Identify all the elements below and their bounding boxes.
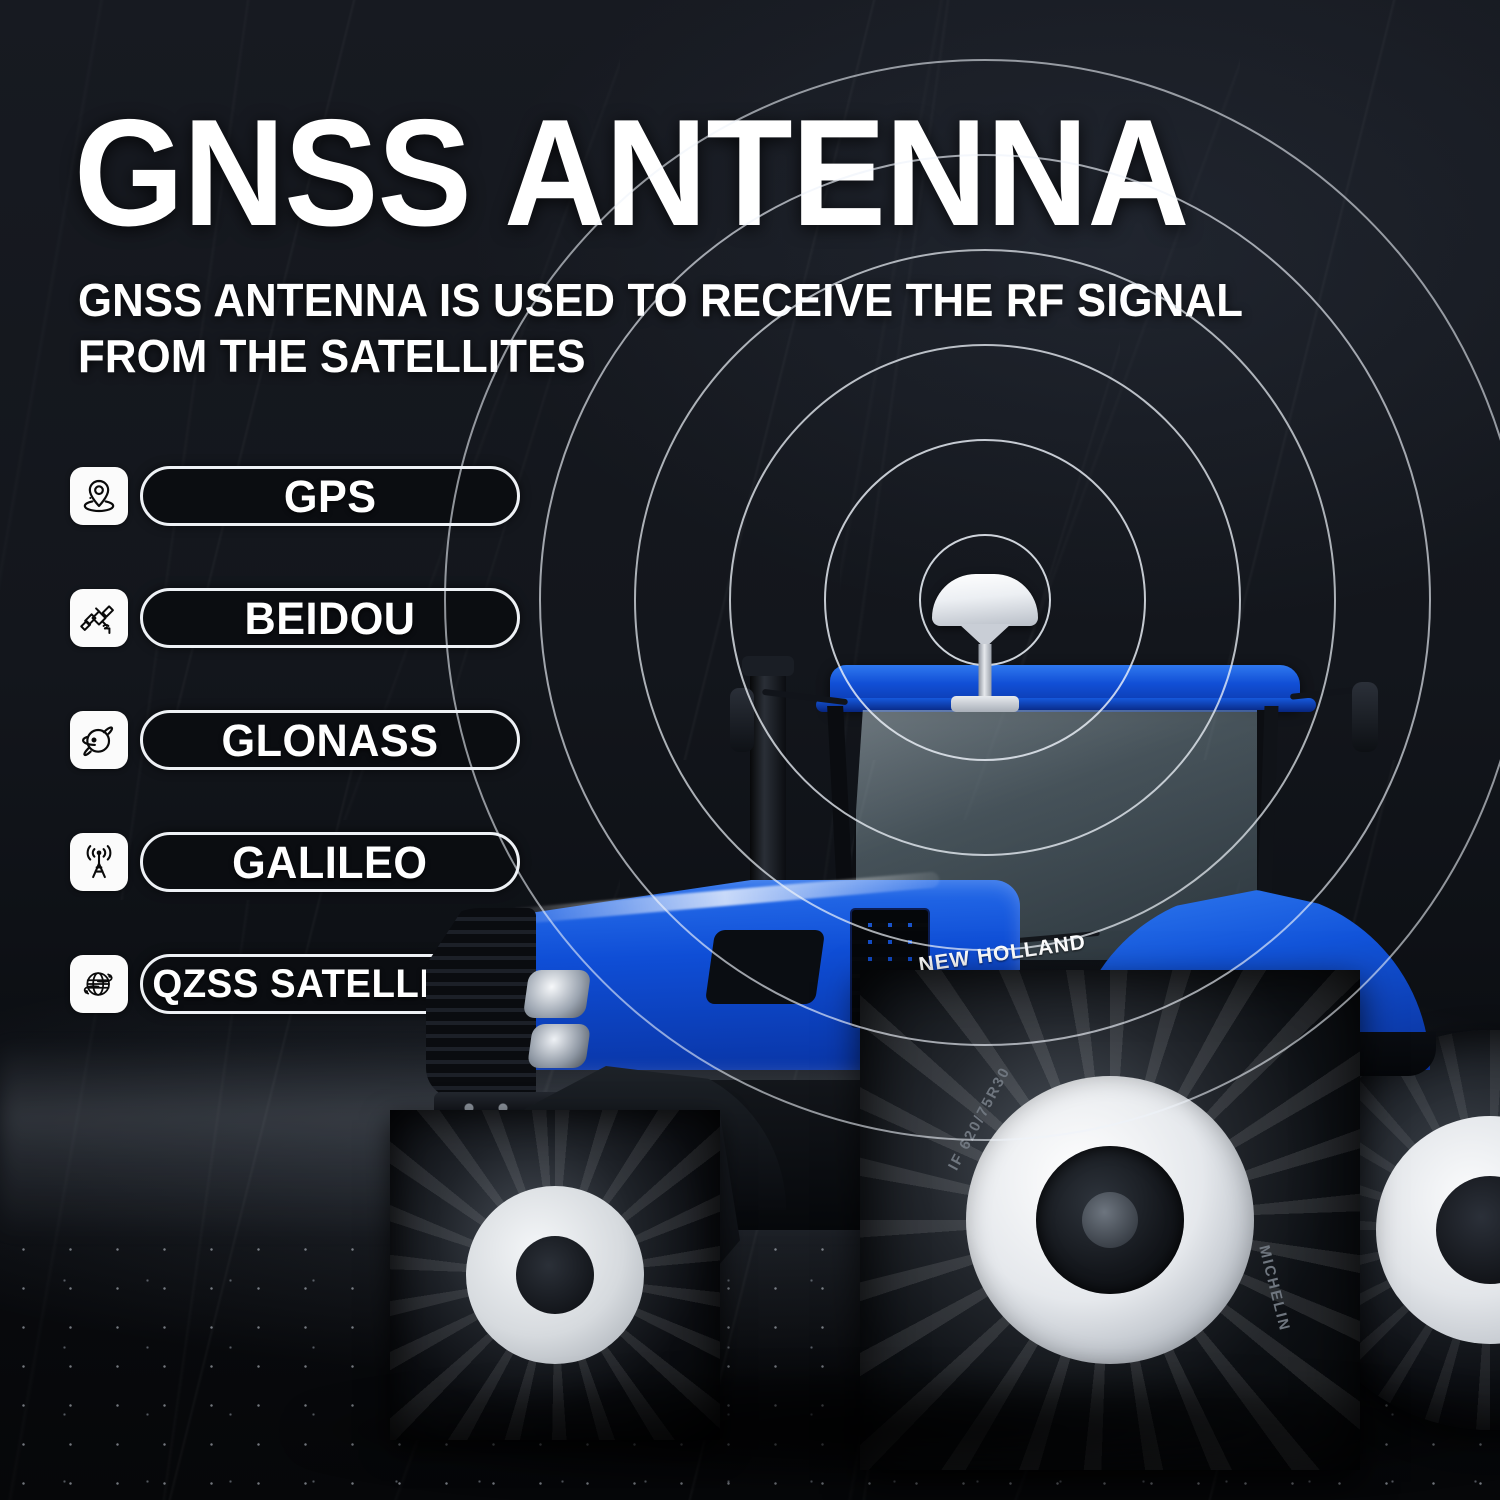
location-pin-icon — [70, 467, 128, 525]
headlamp-lower — [527, 1024, 591, 1068]
exhaust-cap — [742, 656, 794, 676]
page-subtitle: GNSS ANTENNA IS USED TO RECEIVE THE RF S… — [78, 272, 1342, 384]
antenna-mast — [979, 644, 992, 700]
radio-tower-icon — [70, 833, 128, 891]
headlamp-upper — [523, 970, 592, 1018]
exhaust-stack — [750, 670, 786, 900]
rear-hub-center — [1082, 1192, 1138, 1248]
mirror-right — [1352, 682, 1378, 752]
pill-beidou[interactable]: BEIDOU — [140, 588, 520, 648]
hood-vent — [705, 930, 825, 1004]
ground-shadow — [300, 1370, 1500, 1490]
gnss-antenna-infographic: GNSS ANTENNA GNSS ANTENNA IS USED TO REC… — [0, 0, 1500, 1500]
mirror-left — [730, 688, 754, 752]
antenna-base-plate — [951, 696, 1019, 712]
cab-roof-lip — [816, 698, 1316, 712]
satellite-icon — [70, 589, 128, 647]
pill-gps[interactable]: GPS — [140, 466, 520, 526]
page-title: GNSS ANTENNA — [74, 104, 1189, 244]
planet-icon — [70, 711, 128, 769]
globe-orbit-icon — [70, 955, 128, 1013]
feature-row-gps[interactable]: GPS — [70, 465, 520, 527]
front-grille — [426, 908, 536, 1098]
feature-label: GPS — [284, 474, 377, 519]
feature-label: BEIDOU — [245, 596, 416, 641]
front-hub — [516, 1236, 594, 1314]
tractor-illustration: NEW HOLLAND T8.435 IF 620/75R30 MICHELIN — [330, 640, 1500, 1460]
antenna-dome-top — [932, 574, 1038, 626]
